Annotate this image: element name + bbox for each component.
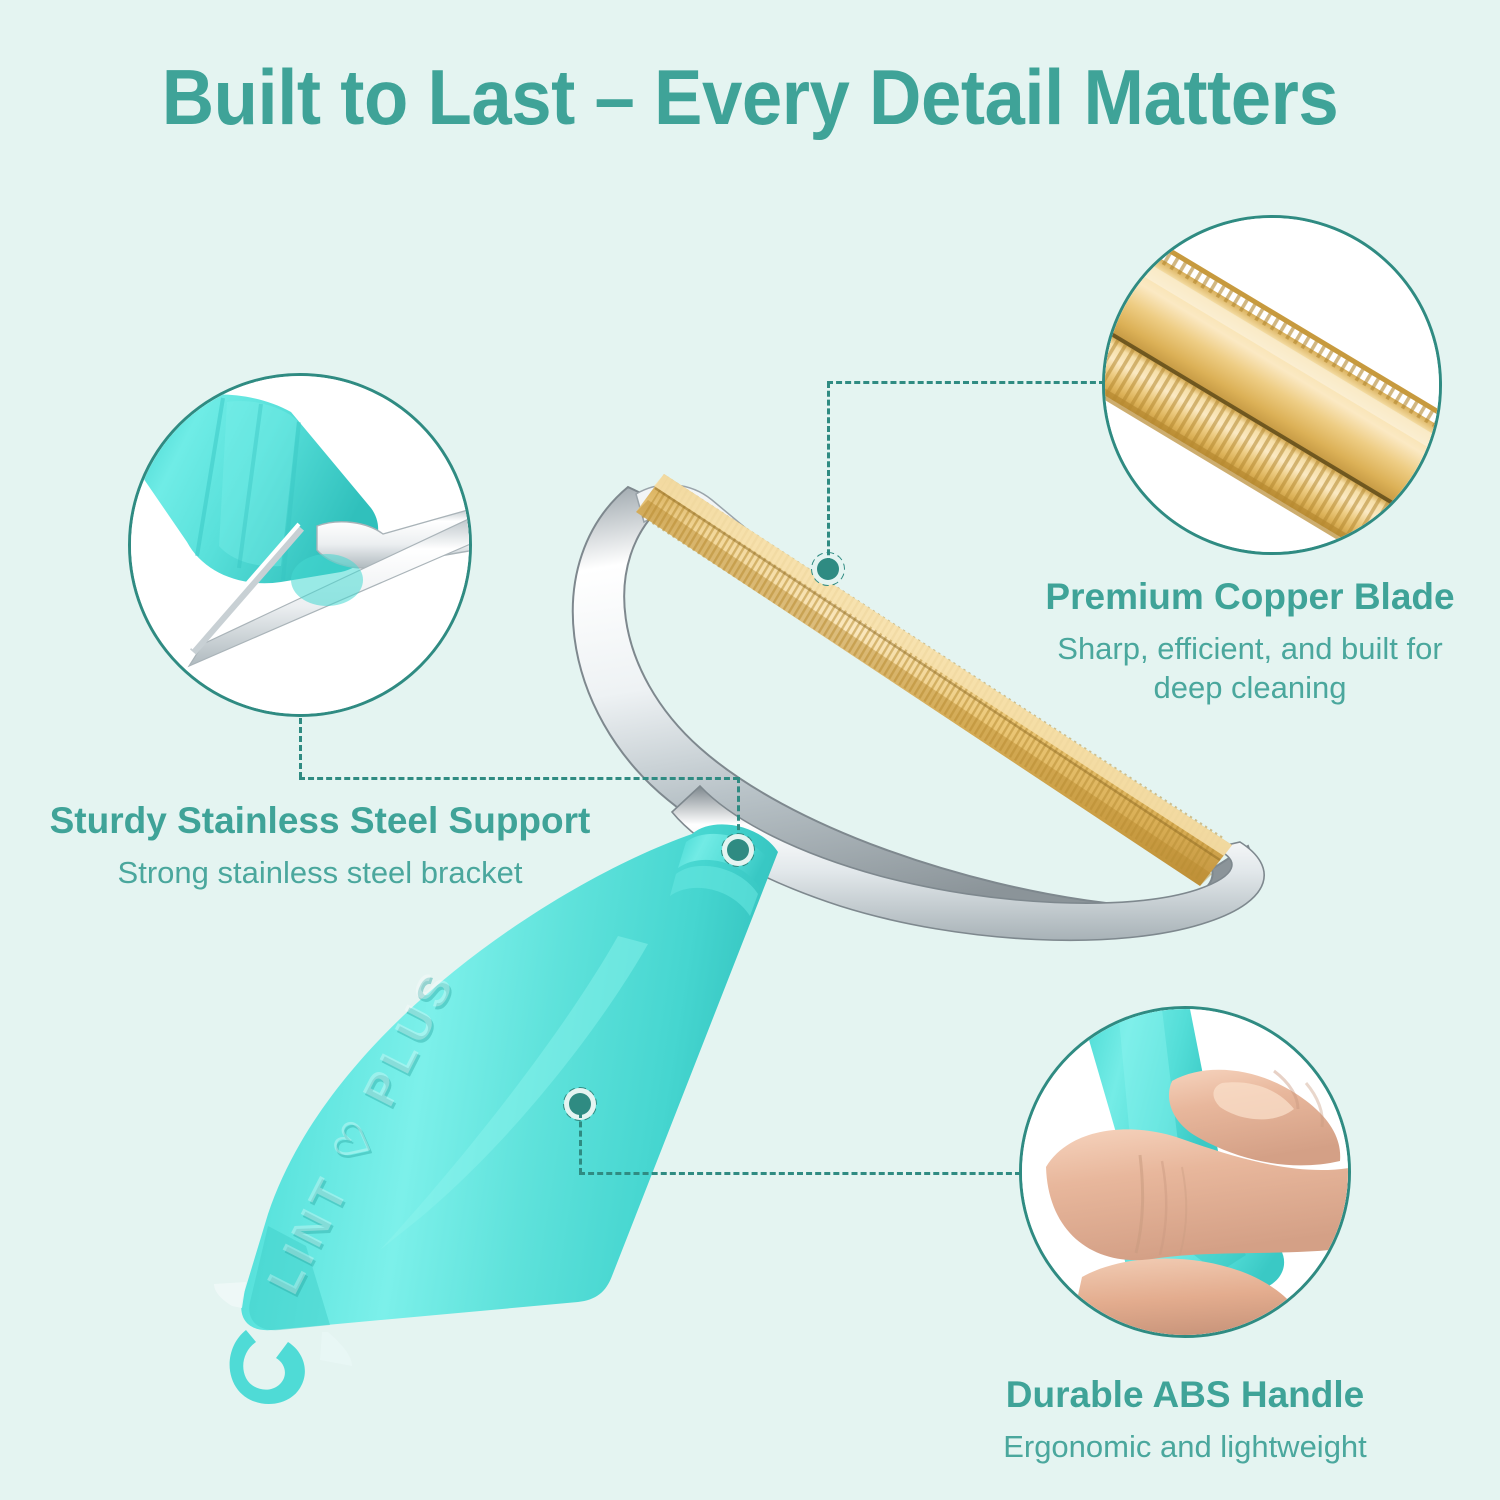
label-subtitle-copper-line2: deep cleaning: [1000, 668, 1500, 708]
connector-line-copper-horizontal: [827, 381, 1105, 384]
infographic-canvas: Built to Last – Every Detail Matters: [0, 0, 1500, 1500]
label-title-abs-handle: Durable ABS Handle: [940, 1374, 1430, 1417]
zoom-art-copper-blade: [1105, 218, 1442, 555]
abs-handle: LINT ♡ PLUS LINT ♡ PLUS: [214, 824, 778, 1404]
label-subtitle-copper-blade: Sharp, efficient, and built for deep cle…: [1000, 629, 1500, 708]
label-subtitle-abs-handle: Ergonomic and lightweight: [940, 1427, 1430, 1467]
callout-circle-stainless-steel: [128, 373, 472, 717]
label-subtitle-stainless-steel: Strong stainless steel bracket: [0, 853, 640, 893]
connector-line-stainless-horizontal: [299, 777, 739, 780]
label-durable-abs-handle: Durable ABS Handle Ergonomic and lightwe…: [940, 1374, 1430, 1466]
connector-line-abs-vertical: [579, 1112, 582, 1174]
callout-circle-copper-blade: [1102, 215, 1442, 555]
hotspot-dot-stainless[interactable]: [727, 839, 749, 861]
zoom-art-abs-handle: [1022, 1009, 1351, 1338]
callout-circle-abs-handle: [1019, 1006, 1351, 1338]
label-subtitle-copper-line1: Sharp, efficient, and built for: [1000, 629, 1500, 669]
label-stainless-steel-support: Sturdy Stainless Steel Support Strong st…: [0, 800, 640, 892]
label-title-stainless-steel: Sturdy Stainless Steel Support: [0, 800, 640, 843]
label-title-copper-blade: Premium Copper Blade: [1000, 576, 1500, 619]
label-premium-copper-blade: Premium Copper Blade Sharp, efficient, a…: [1000, 576, 1500, 708]
connector-line-abs-horizontal: [579, 1172, 1021, 1175]
zoom-art-stainless-steel: [131, 376, 472, 717]
connector-line-stainless-vertical-a: [299, 718, 302, 778]
connector-line-copper-vertical: [827, 382, 830, 564]
